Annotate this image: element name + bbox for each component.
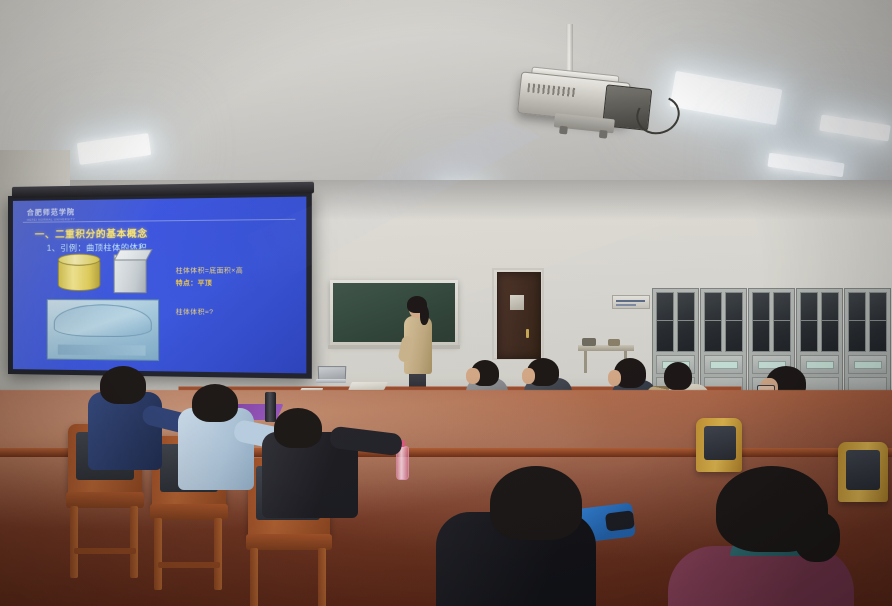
chair-leg [250,548,258,606]
cabinet-glass-pane [800,292,818,352]
cabinet-glass-pane [773,292,791,352]
chair-rung [74,548,136,554]
chalkboard [330,280,458,345]
cabinet-glass-pane [752,292,770,352]
laptop-keyboard[interactable] [316,379,346,383]
chair-leg [214,518,222,590]
cabinet-glass-pane [677,292,695,352]
cabinet-glass-pane [821,292,839,352]
chair-cushion [704,426,736,460]
cabinet-drawer[interactable] [800,355,839,374]
screen-glare [13,197,306,374]
chair-back [696,418,742,472]
projection-screen-surface: 合肥师范学院 HEFEI NORMAL UNIVERSITY 一、二重积分的基本… [13,197,306,374]
chair-back [838,442,888,502]
projector-foot-left [559,126,568,135]
projector-foot-right [599,130,608,139]
classroom-photo: 合肥师范学院 HEFEI NORMAL UNIVERSITY 一、二重积分的基本… [0,0,892,606]
chalkboard-surface [333,283,455,342]
chair-leg [318,548,326,606]
wooden-door[interactable] [497,272,541,359]
chair-leg [130,506,138,578]
presenter-hair-side [420,305,429,325]
cabinet-drawer[interactable] [704,355,743,374]
chair-leg [154,518,162,590]
projector-vent [527,83,576,97]
dark-thermos[interactable] [265,392,276,422]
cabinet-glass-pane [848,292,866,352]
chalkboard-tray [328,345,460,349]
projection-screen: 合肥师范学院 HEFEI NORMAL UNIVERSITY 一、二重积分的基本… [8,191,312,379]
chair-leg [70,506,78,578]
attendee-ponytail [794,512,840,562]
cabinet-label-holder [806,361,834,369]
cabinet-label-holder [710,361,738,369]
papers-on-table [348,382,388,390]
door-handle[interactable] [526,329,529,338]
chair-rung [158,562,220,568]
door-window [510,295,524,310]
chair-cushion [846,450,880,490]
side-table-leg-left [584,351,587,373]
cabinet-glass-pane [725,292,743,352]
side-table [578,345,634,351]
cabinet-glass-pane [704,292,722,352]
cabinet-label-holder [854,361,882,369]
cabinet-drawer[interactable] [848,355,887,374]
cabinet-glass-pane [656,292,674,352]
wall-plaque [612,295,650,309]
laptop-on-table[interactable] [316,366,346,383]
cabinet-glass-pane [869,292,887,352]
